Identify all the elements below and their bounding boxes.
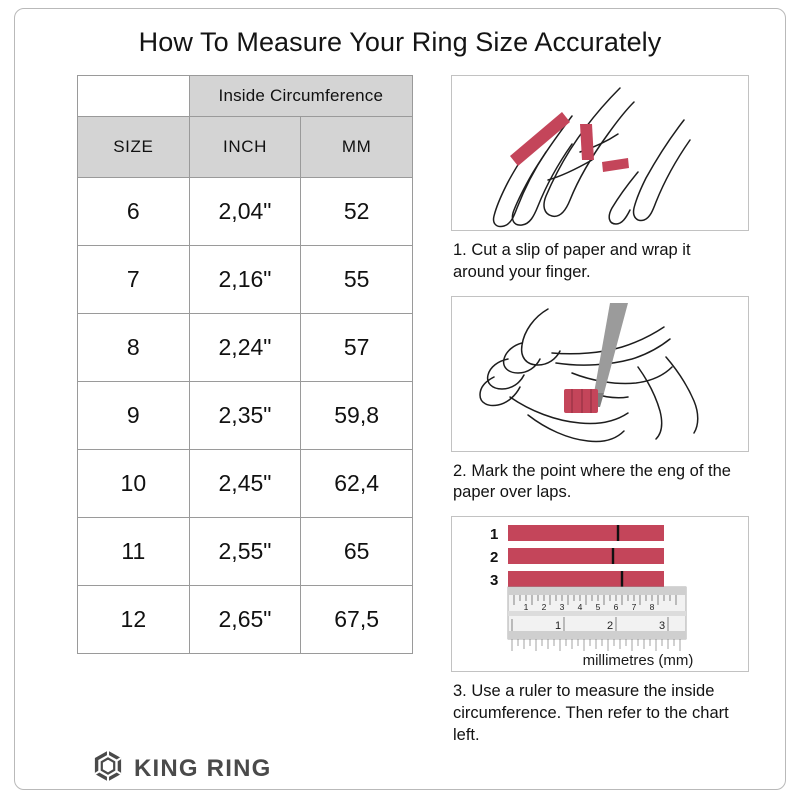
header-blank-cell — [78, 76, 190, 117]
table-column-header-row: SIZE INCH MM — [78, 117, 413, 178]
table-body: 6 2,04" 52 7 2,16" 55 8 2,24" 57 9 2,35"… — [78, 178, 413, 654]
cell-mm: 57 — [301, 314, 413, 382]
cell-mm: 67,5 — [301, 586, 413, 654]
cell-inch: 2,04" — [189, 178, 301, 246]
cell-inch: 2,45" — [189, 450, 301, 518]
page-title: How To Measure Your Ring Size Accurately — [15, 27, 785, 58]
header-inside-circumference: Inside Circumference — [189, 76, 412, 117]
cell-inch: 2,24" — [189, 314, 301, 382]
cell-size: 10 — [78, 450, 190, 518]
table-row: 10 2,45" 62,4 — [78, 450, 413, 518]
hexagon-ring-logo-icon — [93, 751, 123, 786]
cell-mm: 65 — [301, 518, 413, 586]
strip-label-1: 1 — [490, 526, 498, 543]
cell-size: 9 — [78, 382, 190, 450]
brand-logo: KING RING — [93, 751, 271, 786]
cell-size: 7 — [78, 246, 190, 314]
cell-size: 6 — [78, 178, 190, 246]
table-row: 6 2,04" 52 — [78, 178, 413, 246]
cell-inch: 2,16" — [189, 246, 301, 314]
cell-mm: 59,8 — [301, 382, 413, 450]
ruler-top-tick: 3 — [560, 602, 565, 612]
page-frame: How To Measure Your Ring Size Accurately… — [14, 8, 786, 790]
ring-size-table: Inside Circumference SIZE INCH MM 6 2,04… — [77, 75, 413, 654]
brand-logo-text: KING RING — [134, 755, 271, 783]
cell-size: 8 — [78, 314, 190, 382]
cell-size: 11 — [78, 518, 190, 586]
step-1-text: 1. Cut a slip of paper and wrap it aroun… — [453, 240, 745, 284]
cell-mm: 55 — [301, 246, 413, 314]
table-group-header-row: Inside Circumference — [78, 76, 413, 117]
table-row: 8 2,24" 57 — [78, 314, 413, 382]
hand-with-paper-slip-illustration — [451, 75, 749, 231]
hand-marking-paper-with-pen-illustration — [451, 296, 749, 452]
table-row: 11 2,55" 65 — [78, 518, 413, 586]
instruction-steps: 1. Cut a slip of paper and wrap it aroun… — [451, 75, 751, 758]
ruler-top-tick: 4 — [578, 602, 583, 612]
ruler-bottom-tick: 2 — [607, 620, 613, 632]
step-3-text: 3. Use a ruler to measure the inside cir… — [453, 681, 745, 746]
ruler-top-tick: 7 — [632, 602, 637, 612]
header-mm: MM — [301, 117, 413, 178]
cell-inch: 2,65" — [189, 586, 301, 654]
table-row: 7 2,16" 55 — [78, 246, 413, 314]
step-2-text: 2. Mark the point where the eng of the p… — [453, 461, 745, 505]
header-size: SIZE — [78, 117, 190, 178]
cell-size: 12 — [78, 586, 190, 654]
table-header: Inside Circumference SIZE INCH MM — [78, 76, 413, 178]
cell-mm: 62,4 — [301, 450, 413, 518]
header-inch: INCH — [189, 117, 301, 178]
cell-inch: 2,35" — [189, 382, 301, 450]
ruler-top-tick: 6 — [614, 602, 619, 612]
strip-label-2: 2 — [490, 549, 498, 566]
ruler-measuring-paper-strips-illustration: 1 2 3 — [451, 516, 749, 672]
strip-label-3: 3 — [490, 572, 498, 589]
ruler-top-tick: 5 — [596, 602, 601, 612]
ruler-top-tick: 1 — [524, 602, 529, 612]
ruler-top-tick: 8 — [650, 602, 655, 612]
ruler-top-tick: 2 — [542, 602, 547, 612]
cell-inch: 2,55" — [189, 518, 301, 586]
cell-mm: 52 — [301, 178, 413, 246]
ruler-bottom-tick: 3 — [659, 620, 665, 632]
table-row: 9 2,35" 59,8 — [78, 382, 413, 450]
ruler-bottom-tick: 1 — [555, 620, 561, 632]
step-1: 1. Cut a slip of paper and wrap it aroun… — [451, 75, 751, 284]
ruler-caption: millimetres (mm) — [583, 652, 694, 669]
step-3: 1 2 3 — [451, 516, 751, 746]
table-row: 12 2,65" 67,5 — [78, 586, 413, 654]
step-2: 2. Mark the point where the eng of the p… — [451, 296, 751, 505]
